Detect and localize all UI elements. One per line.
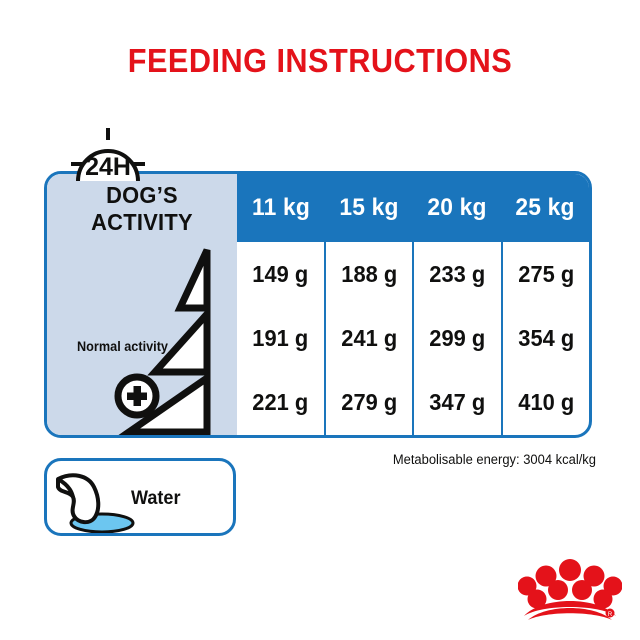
table-cell: 410 g: [505, 371, 587, 435]
table-cell: 279 g: [328, 371, 410, 435]
svg-text:R: R: [608, 612, 613, 618]
feeding-table: DOG’S ACTIVITY: [44, 171, 592, 438]
activity-steps-graphic: Normal activity Activity: [47, 246, 237, 436]
royal-canin-crown-logo: R: [518, 550, 622, 622]
water-label: Water: [131, 488, 180, 510]
clock-24h-icon: 24H: [70, 127, 146, 181]
weight-header-row: 11 kg 15 kg 20 kg 25 kg: [237, 174, 589, 242]
table-cell: 299 g: [416, 306, 498, 370]
table-cell: 233 g: [416, 242, 498, 306]
rations-grid: 11 kg 15 kg 20 kg 25 kg 149 g 191 g 221 …: [237, 174, 589, 435]
table-cell: 241 g: [328, 306, 410, 370]
activity-panel: DOG’S ACTIVITY: [47, 174, 237, 435]
water-pouring-icon: [56, 467, 138, 533]
table-cell: 191 g: [239, 306, 321, 370]
table-cell: 347 g: [416, 371, 498, 435]
activity-label-normal: Normal activity: [77, 339, 168, 354]
weight-header-11kg: 11 kg: [239, 174, 323, 242]
table-cell: 188 g: [328, 242, 410, 306]
table-cell: 354 g: [505, 306, 587, 370]
table-cell: 221 g: [239, 371, 321, 435]
rations-column-20kg: 233 g 299 g 347 g: [412, 242, 501, 435]
activity-column-header: DOG’S ACTIVITY: [52, 174, 233, 236]
activity-header-line1: DOG’S: [52, 182, 233, 209]
rations-column-15kg: 188 g 241 g 279 g: [324, 242, 413, 435]
activity-step-large-plus-icon: [118, 377, 207, 432]
rations-body: 149 g 191 g 221 g 188 g 241 g 279 g 233 …: [237, 242, 589, 435]
rations-column-25kg: 275 g 354 g 410 g: [501, 242, 590, 435]
rations-column-11kg: 149 g 191 g 221 g: [237, 242, 324, 435]
activity-header-line2: ACTIVITY: [52, 209, 233, 236]
weight-header-20kg: 20 kg: [415, 174, 499, 242]
page-title: FEEDING INSTRUCTIONS: [22, 44, 617, 77]
table-cell: 149 g: [239, 242, 321, 306]
activity-step-small-icon: [180, 250, 207, 308]
weight-header-25kg: 25 kg: [503, 174, 587, 242]
weight-header-15kg: 15 kg: [327, 174, 411, 242]
water-card: Water: [44, 458, 236, 536]
table-cell: 275 g: [505, 242, 587, 306]
badge-24h-label: 24H: [85, 153, 131, 181]
